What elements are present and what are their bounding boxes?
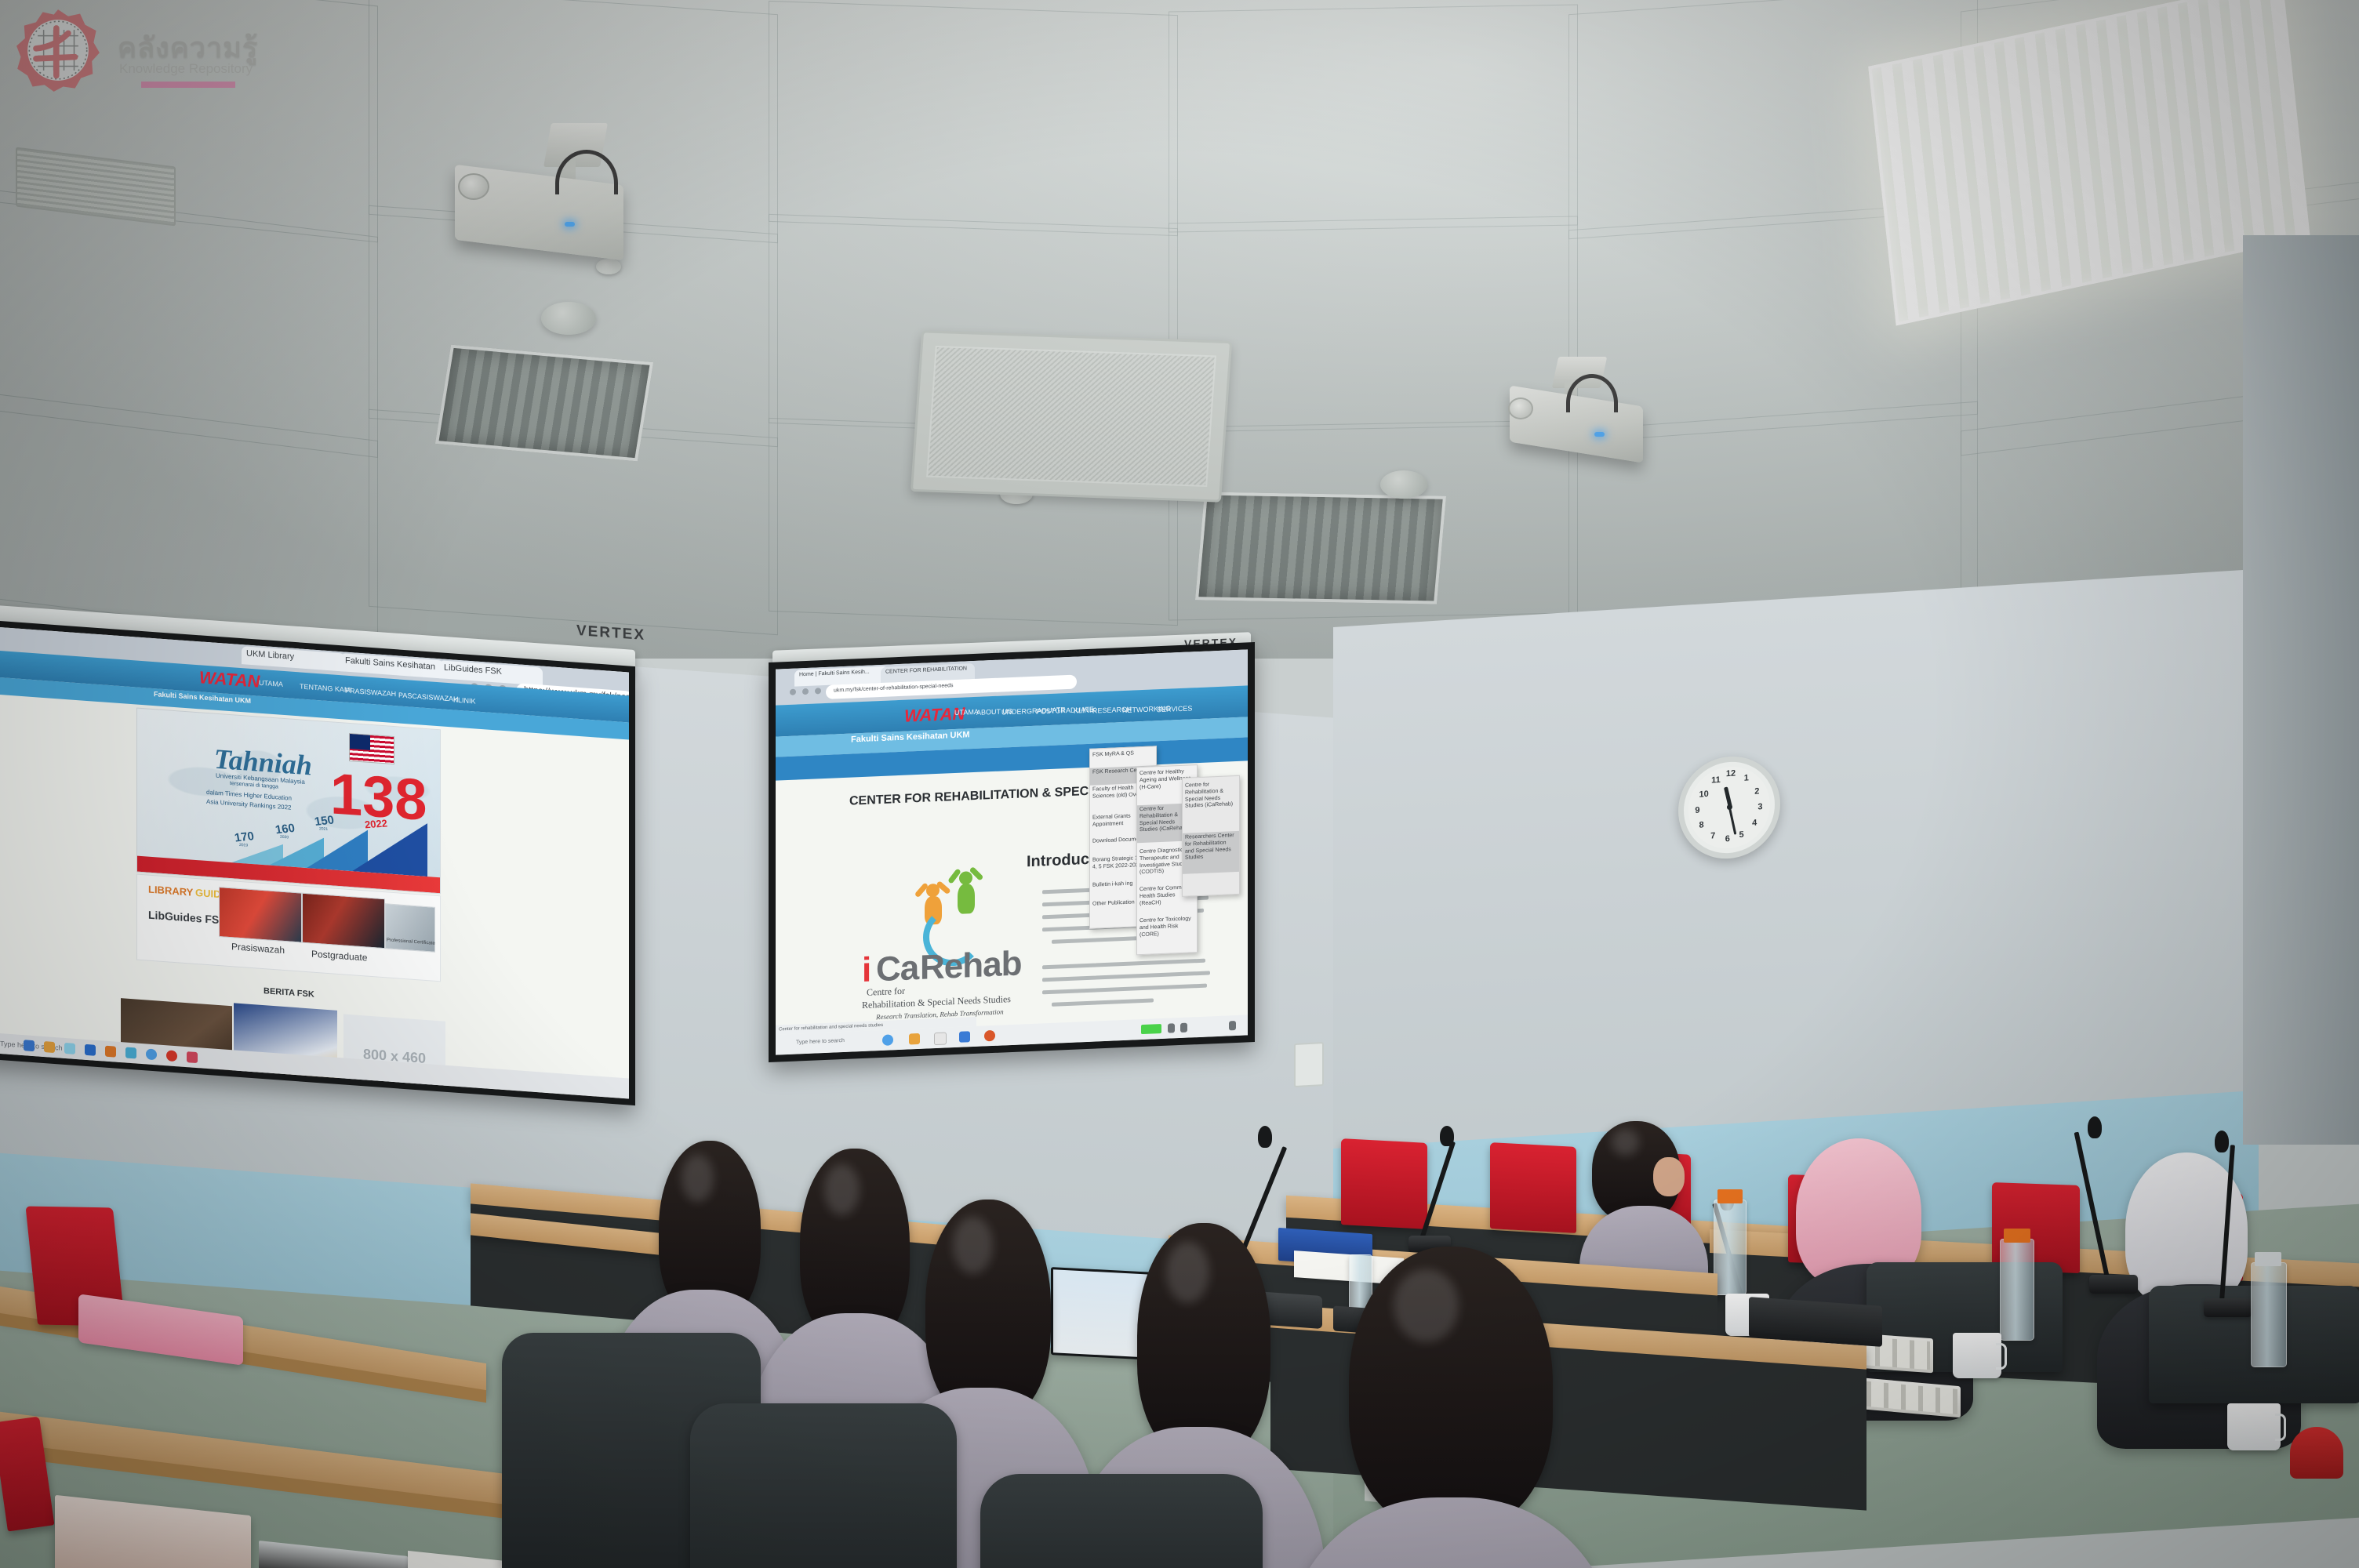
- taskbar-icon-word[interactable]: [959, 1031, 970, 1043]
- clock-numeral: 4: [1752, 818, 1757, 827]
- chair-office-dark[interactable]: [690, 1403, 957, 1568]
- coffee-mug[interactable]: [1953, 1333, 2001, 1378]
- library-guides-title-strong: LIBRARY: [148, 884, 193, 898]
- screen-left-content: UKM Library Fakulti Sains Kesihatan LibG…: [0, 626, 629, 1098]
- poster-rank-year: 2022: [364, 817, 388, 830]
- guide-thumbnail[interactable]: [219, 887, 302, 943]
- bottle-cap: [1717, 1189, 1743, 1203]
- clock-numeral: 11: [1711, 775, 1721, 786]
- taskbar-search-label[interactable]: Type here to search: [796, 1038, 845, 1046]
- news-heading: BERITA FSK: [264, 986, 314, 1000]
- mic-head: [2088, 1116, 2102, 1138]
- site-nav-item[interactable]: UTAMA: [259, 679, 283, 688]
- menu-item[interactable]: Researchers Center for Rehabilitation an…: [1183, 831, 1239, 874]
- mic-base: [2089, 1275, 2138, 1294]
- water-bottle[interactable]: [2000, 1239, 2034, 1341]
- logo-wordmark-i: i: [862, 951, 871, 990]
- bottle-cap: [2004, 1229, 2030, 1243]
- person-hair: [1137, 1223, 1270, 1458]
- clock-numeral: 9: [1695, 805, 1699, 815]
- taskbar-icon-app[interactable]: [934, 1032, 947, 1045]
- taskbar-icon-edge[interactable]: [64, 1043, 75, 1054]
- water-bottle[interactable]: [1714, 1200, 1747, 1295]
- clock-numeral: 2: [1754, 786, 1759, 796]
- projection-screen-left: UKM Library Fakulti Sains Kesihatan LibG…: [0, 619, 635, 1105]
- watermark-brand-line2: Knowledge Repository: [119, 61, 253, 77]
- seminar-room-photo: 12 1 2 3 4 5 6 7 8 9 10 11 VERTEX UKM Li…: [0, 0, 2359, 1568]
- taskbar-icon-word[interactable]: [85, 1044, 96, 1056]
- clock-numeral: 12: [1726, 769, 1736, 779]
- poster-step-year: 2020: [280, 835, 289, 840]
- wall-right-return: [2243, 235, 2359, 1145]
- clock-numeral: 3: [1757, 802, 1762, 811]
- wall-socket-panel[interactable]: [1294, 1042, 1324, 1087]
- person-hair: [925, 1200, 1051, 1419]
- taskbar-icon-acrobat[interactable]: [166, 1050, 177, 1062]
- site-nav-item[interactable]: KLINIK: [453, 695, 476, 705]
- taskbar-battery-icon[interactable]: [1141, 1024, 1161, 1034]
- body-text-line: [1052, 998, 1154, 1006]
- logo-wordmark-rehab: Rehab: [920, 944, 1021, 987]
- menu-column-3[interactable]: Centre for Rehabilitation & Special Need…: [1182, 775, 1240, 897]
- clock-numeral: 5: [1739, 830, 1743, 840]
- projection-screen-right: Home | Fakulti Sains Kesih... CENTER FOR…: [769, 642, 1255, 1062]
- clock-face: 12 1 2 3 4 5 6 7 8 9 10 11: [1688, 764, 1770, 851]
- guide-card-label[interactable]: Prasiswazah: [231, 941, 285, 956]
- site-nav-item[interactable]: SERVICES: [1157, 704, 1192, 713]
- taskbar-network-icon[interactable]: [1168, 1023, 1175, 1033]
- ranking-poster: Tahniah Universiti Kebangsaan Malaysia t…: [136, 708, 441, 895]
- guide-thumbnail[interactable]: [302, 893, 385, 949]
- clock-numeral: 1: [1744, 774, 1749, 783]
- poster-step-year: 2019: [239, 843, 248, 848]
- wall-upper-right: [1333, 569, 2259, 1176]
- red-desk-object: [2290, 1427, 2343, 1479]
- taskbar-icon-explorer[interactable]: [909, 1033, 920, 1045]
- malaysia-flag-icon: [349, 733, 394, 764]
- menu-item[interactable]: Centre for Rehabilitation & Special Need…: [1183, 779, 1239, 819]
- taskbar-icon-teams[interactable]: [125, 1047, 136, 1059]
- chair-office-dark[interactable]: [980, 1474, 1263, 1568]
- water-bottle[interactable]: [2251, 1262, 2287, 1367]
- bottle-cap: [2255, 1252, 2281, 1266]
- mic-head: [1440, 1126, 1454, 1146]
- body-text-line: [1042, 984, 1207, 995]
- menu-item[interactable]: Centre for Toxicology and Health Risk (C…: [1137, 914, 1197, 942]
- mic-head: [2215, 1131, 2229, 1152]
- taskbar-icon-cortana[interactable]: [24, 1040, 35, 1051]
- person-face: [1653, 1157, 1685, 1196]
- library-guides-subtitle[interactable]: LibGuides FSK: [148, 909, 227, 927]
- clock-numeral: 8: [1699, 820, 1704, 829]
- red-seal-logo-icon: [16, 8, 100, 93]
- clock-numeral: 10: [1699, 789, 1709, 800]
- body-text-line: [1052, 936, 1146, 944]
- screen-right-content: Home | Fakulti Sains Kesih... CENTER FOR…: [776, 649, 1248, 1054]
- watermark-rule: [141, 82, 235, 88]
- person-hair: [1349, 1247, 1553, 1529]
- clock-center-pin: [1727, 804, 1732, 810]
- chair-red[interactable]: [1490, 1142, 1576, 1233]
- clock-minute-hand: [1729, 808, 1737, 835]
- site-nav-item[interactable]: UTAMA: [954, 708, 979, 717]
- taskbar-icon-chrome[interactable]: [146, 1048, 157, 1060]
- taskbar-notifications-icon[interactable]: [1229, 1021, 1236, 1030]
- guide-card-label[interactable]: Postgraduate: [311, 949, 367, 964]
- taskbar-icon-explorer[interactable]: [44, 1041, 55, 1053]
- news-placeholder: 800 x 460: [343, 1014, 445, 1098]
- taskbar-icon-powerpoint[interactable]: [984, 1030, 995, 1042]
- watan-logo-text: WATAN: [199, 667, 260, 692]
- logo-wordmark-ca: Ca: [876, 949, 918, 989]
- figure-head: [959, 871, 972, 885]
- watermark: คลังความรู้ Knowledge Repository: [16, 6, 518, 100]
- body-text-line: [1042, 971, 1210, 982]
- taskbar-icon-powerpoint[interactable]: [105, 1046, 116, 1058]
- logo-tagline-1: Centre for: [867, 985, 905, 999]
- taskbar-icon-chrome[interactable]: [882, 1034, 893, 1046]
- chair-red[interactable]: [1341, 1138, 1427, 1229]
- icarehab-logo: i Ca Rehab Centre for Rehabilitation & S…: [856, 869, 1020, 1033]
- clock-numeral: 7: [1710, 831, 1715, 840]
- taskbar-volume-icon[interactable]: [1180, 1023, 1187, 1033]
- clock-numeral: 6: [1725, 834, 1730, 844]
- poster-step-year: 2021: [319, 826, 328, 832]
- coffee-mug[interactable]: [2227, 1403, 2281, 1450]
- mic-head: [1258, 1126, 1272, 1148]
- taskbar-icon-app[interactable]: [187, 1051, 198, 1063]
- mic-base: [2204, 1298, 2252, 1317]
- body-text-line: [1042, 959, 1205, 970]
